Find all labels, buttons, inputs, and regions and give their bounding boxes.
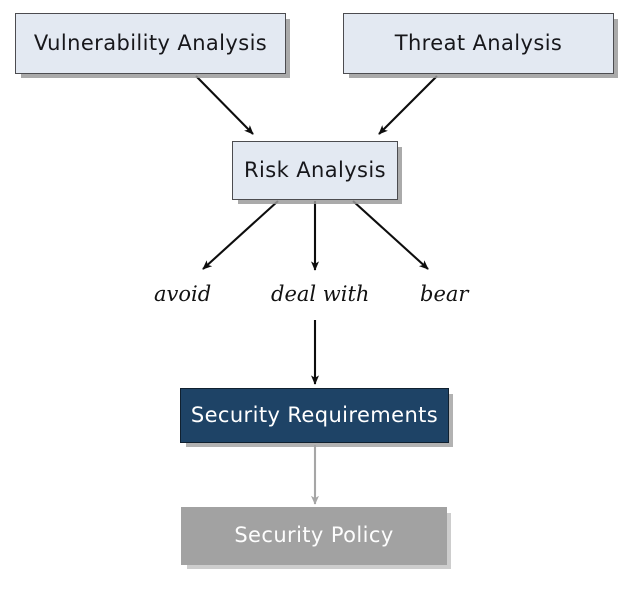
edge-risk-to-bear (353, 201, 428, 269)
edge-vulnerability-to-risk (196, 76, 253, 134)
branch-label-bear: bear (420, 282, 468, 306)
branch-label-deal-with: deal with (271, 282, 369, 306)
node-risk-analysis[interactable]: Risk Analysis (232, 141, 398, 200)
edge-risk-to-avoid (203, 201, 278, 269)
branch-label-avoid: avoid (154, 282, 211, 306)
node-label-threat-analysis: Threat Analysis (395, 32, 563, 55)
node-threat-analysis[interactable]: Threat Analysis (343, 13, 614, 74)
branch-label-bear-text: bear (420, 282, 468, 306)
branch-label-deal-with-text: deal with (271, 282, 369, 306)
node-security-requirements[interactable]: Security Requirements (180, 388, 449, 443)
diagram-canvas: Vulnerability Analysis Threat Analysis R… (0, 0, 638, 595)
node-security-policy[interactable]: Security Policy (181, 507, 447, 565)
edge-threat-to-risk (379, 76, 437, 134)
node-vulnerability-analysis[interactable]: Vulnerability Analysis (15, 13, 286, 74)
node-label-risk-analysis: Risk Analysis (244, 159, 386, 182)
node-label-security-policy: Security Policy (234, 524, 393, 547)
node-label-vulnerability-analysis: Vulnerability Analysis (34, 32, 267, 55)
branch-label-avoid-text: avoid (154, 282, 211, 306)
node-label-security-requirements: Security Requirements (191, 404, 438, 427)
